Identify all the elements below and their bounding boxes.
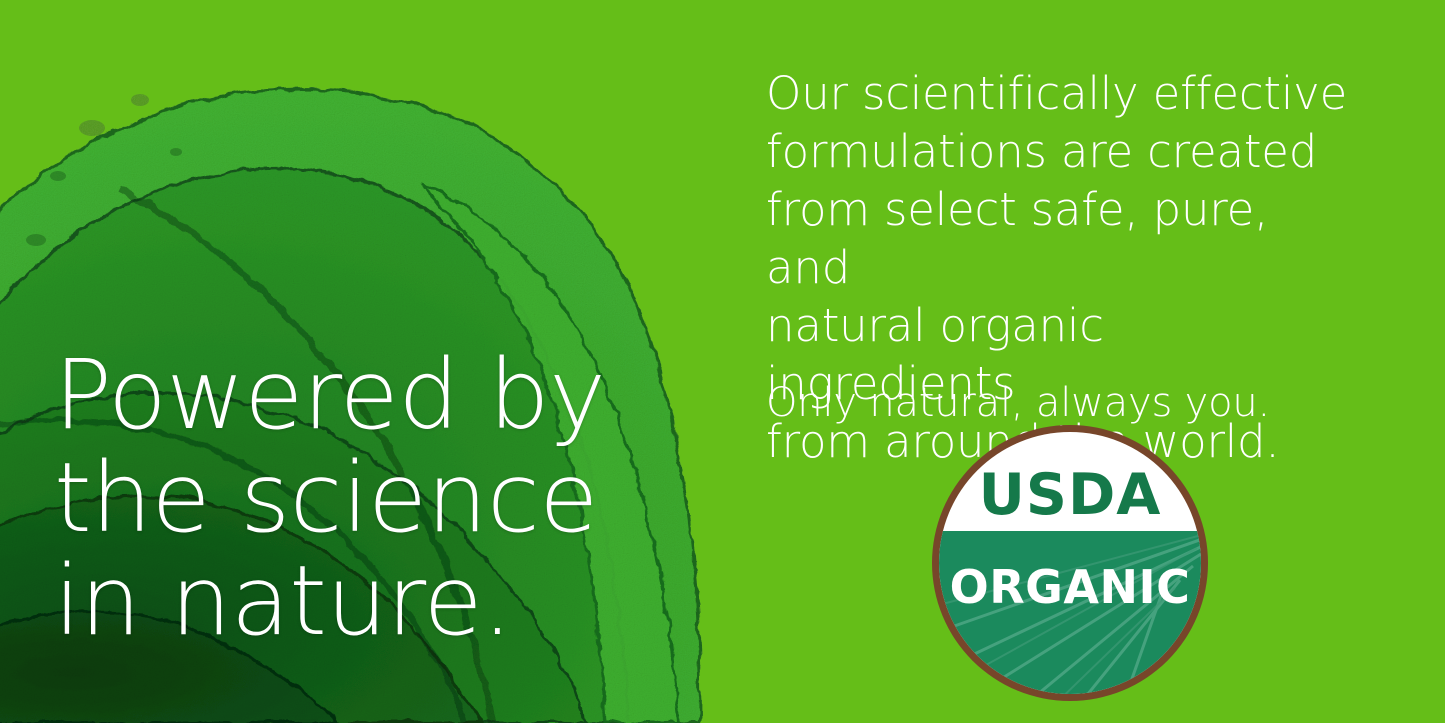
right-column: Our scientifically effective formulation… [766, 0, 1406, 723]
seal-top-text: USDA [979, 462, 1162, 528]
promo-banner: Powered by the science in nature. Our sc… [0, 0, 1445, 723]
seal-bottom-text: ORGANIC [950, 560, 1191, 614]
page-title: Powered by the science in nature. [54, 344, 714, 653]
seal-green-field [925, 531, 1215, 708]
usda-organic-seal: USDA ORGANIC [925, 418, 1215, 708]
